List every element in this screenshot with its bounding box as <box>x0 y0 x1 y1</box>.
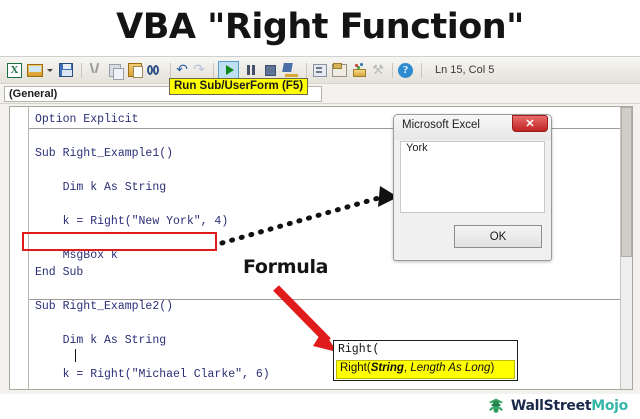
view-excel-icon[interactable] <box>26 62 43 79</box>
mojo-mascot-icon <box>486 396 506 416</box>
message-box-dialog: Microsoft Excel ✕ York OK <box>393 114 552 261</box>
code-divider <box>29 299 632 300</box>
code-vertical-scrollbar[interactable] <box>620 107 632 389</box>
break-glyph <box>245 64 257 76</box>
page-title: VBA "Right Function" <box>0 2 640 52</box>
formula-prefix: Right( <box>340 362 371 374</box>
screenshot-root: VBA "Right Function" X ↶ ↷ ⚒ <box>0 0 640 419</box>
scrollbar-thumb[interactable] <box>621 107 632 257</box>
toolbar-separator <box>392 63 393 78</box>
close-icon[interactable]: ✕ <box>512 115 548 132</box>
properties-window-icon[interactable] <box>331 62 348 79</box>
code-line: Dim k As String <box>35 332 620 349</box>
brand-text: WallStreetMojo <box>511 398 628 414</box>
view-excel-glyph <box>27 64 43 77</box>
toolbar-separator <box>306 63 307 78</box>
toolbar-separator <box>213 63 214 78</box>
copy-glyph <box>109 64 121 77</box>
excel-glyph: X <box>7 63 22 78</box>
formula-intellisense-hint: Right(String, Length As Long) <box>336 360 515 379</box>
code-line <box>35 315 620 332</box>
toolbar-separator <box>421 63 422 78</box>
vbe-toolbar: X ↶ ↷ ⚒ ? Ln 15, Col 5 <box>0 57 640 84</box>
project-explorer-glyph <box>313 64 327 77</box>
formula-annotation-label: Formula <box>243 256 328 278</box>
design-mode-glyph <box>283 63 298 77</box>
find-glyph <box>147 64 162 77</box>
wallstreetmojo-logo: WallStreetMojo <box>486 396 628 416</box>
dialog-title-bar: Microsoft Excel ✕ <box>394 115 551 140</box>
formula-typed-text: Right( <box>338 343 379 356</box>
dialog-message-text: York <box>406 142 428 154</box>
find-icon[interactable] <box>146 62 163 79</box>
brand-part-2: Mojo <box>591 398 628 414</box>
footer: WallStreetMojo <box>0 394 640 419</box>
break-icon[interactable] <box>242 62 259 79</box>
code-line <box>35 281 620 298</box>
formula-arg-string: String <box>371 362 404 374</box>
code-line: k = Right("Michael Clarke", 6) <box>35 366 620 383</box>
cut-glyph <box>88 63 101 77</box>
vbe-combo-bar: (General) <box>0 84 640 104</box>
text-caret <box>75 349 76 362</box>
brand-part-1: WallStreet <box>511 398 591 414</box>
redo-icon[interactable]: ↷ <box>192 64 206 77</box>
help-glyph: ? <box>398 63 413 78</box>
highlight-box-right-call <box>22 232 217 251</box>
copy-icon[interactable] <box>106 62 123 79</box>
object-browser-glyph <box>352 64 367 77</box>
run-sub-userform-icon[interactable] <box>218 61 239 80</box>
paste-glyph <box>128 63 142 77</box>
help-icon[interactable]: ? <box>397 62 414 79</box>
excel-icon[interactable]: X <box>6 62 23 79</box>
properties-window-glyph <box>332 64 347 77</box>
ok-button[interactable]: OK <box>454 225 542 248</box>
position-indicator: Ln 15, Col 5 <box>435 64 494 76</box>
save-glyph <box>59 63 73 77</box>
code-line: Sub Right_Example2() <box>35 298 620 315</box>
design-mode-icon[interactable] <box>282 62 299 79</box>
formula-syntax-box: Right( Right(String, Length As Long) <box>333 340 518 381</box>
run-sub-tooltip: Run Sub/UserForm (F5) <box>169 78 308 95</box>
toolbar-separator <box>170 63 171 78</box>
reset-icon[interactable] <box>262 62 279 79</box>
code-line <box>35 349 620 366</box>
reset-glyph <box>265 65 276 76</box>
project-explorer-icon[interactable] <box>311 62 328 79</box>
formula-arg-length: Length As Long <box>410 362 490 374</box>
undo-icon[interactable]: ↶ <box>175 64 189 77</box>
formula-suffix: ) <box>490 362 494 374</box>
toolbar-separator <box>81 63 82 78</box>
paste-icon[interactable] <box>126 62 143 79</box>
cut-icon[interactable] <box>86 62 103 79</box>
dropdown-caret-icon[interactable] <box>46 62 54 79</box>
dialog-title: Microsoft Excel <box>402 119 480 131</box>
save-icon[interactable] <box>57 62 74 79</box>
object-browser-icon[interactable] <box>351 62 368 79</box>
toolbox-icon[interactable]: ⚒ <box>371 64 385 77</box>
